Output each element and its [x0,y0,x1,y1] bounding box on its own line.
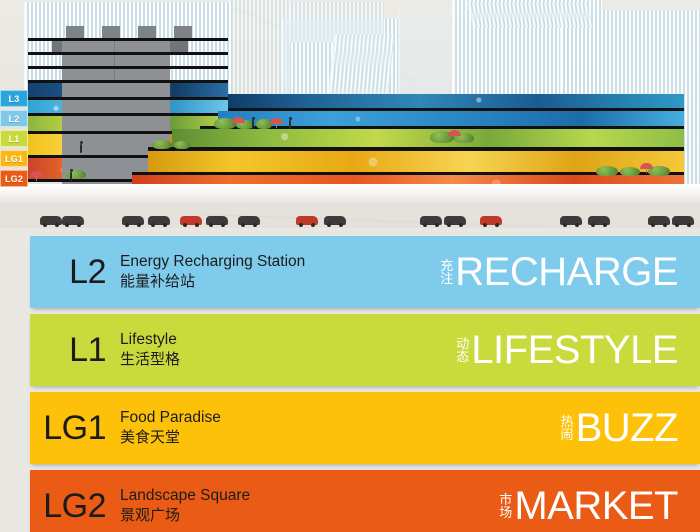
car [672,216,694,225]
podium-band-l1 [172,129,684,148]
terrace-shrub [174,141,190,149]
legend-tag-zh-top: 充 [440,260,453,273]
legend-tag-zh-top: 热 [561,416,574,429]
legend-tag-zh-bottom: 闹 [561,429,574,442]
legend-name-en: Energy Recharging Station [120,253,440,272]
rooftop-mechanical-unit [174,26,192,38]
background-tower [467,2,593,28]
floor-slab [28,52,228,55]
floor-tab-label: LG1 [5,154,23,164]
terrace-shrub [152,140,172,149]
rooftop-mechanical-unit [138,26,156,38]
person-figure [289,120,291,129]
legend-name-zh: 景观广场 [120,506,499,525]
terrace-umbrella [232,117,245,123]
street-strip [0,184,700,206]
floor-level-tabs[interactable]: L3 L2 L1 LG1 LG2 [0,90,28,190]
floor-tab-lg2[interactable]: LG2 [0,170,28,187]
podium-band-l3 [228,94,684,109]
legend-tag-zh: 热 闹 [561,416,574,443]
building-core [62,100,170,114]
car [588,216,610,225]
legend-names: Food Paradise 美食天堂 [116,409,561,447]
legend-tag: 热 闹 BUZZ [561,408,700,448]
floor-legend-list: L2 Energy Recharging Station 能量补给站 充 注 R… [0,228,700,532]
person-figure [252,120,254,129]
legend-name-zh: 美食天堂 [120,428,561,447]
legend-tag: 充 注 RECHARGE [440,252,700,292]
car [296,216,318,225]
legend-level-code: L1 [30,333,116,367]
legend-row-lg2[interactable]: LG2 Landscape Square 景观广场 市 场 MARKET [30,470,700,532]
legend-level-code: LG2 [30,489,116,523]
car [206,216,228,225]
terrace-shrub [596,166,618,176]
legend-row-l1[interactable]: L1 Lifestyle 生活型格 动 态 LIFESTYLE [30,314,700,386]
legend-name-en: Landscape Square [120,487,499,506]
legend-tag-zh-bottom: 态 [456,351,469,364]
floor-tab-l2[interactable]: L2 [0,110,28,127]
car [420,216,442,225]
legend-names: Landscape Square 景观广场 [116,487,499,525]
car [180,216,202,225]
legend-name-en: Lifestyle [120,331,456,350]
legend-tag-en: MARKET [514,486,678,526]
legend-tag-zh-bottom: 场 [499,507,512,520]
terrace-umbrella [448,130,461,136]
floor-tab-label: L1 [9,134,20,144]
terrace-umbrella [640,163,653,169]
floor-tab-label: LG2 [5,174,23,184]
car [560,216,582,225]
car [238,216,260,225]
legend-name-en: Food Paradise [120,409,561,428]
floor-tab-lg1[interactable]: LG1 [0,150,28,167]
legend-tag-zh-top: 动 [456,338,469,351]
terrace-umbrella [270,118,283,124]
person-figure [70,172,72,181]
car [148,216,170,225]
legend-tag-en: BUZZ [576,408,678,448]
floor-tab-label: L3 [9,94,20,104]
legend-name-zh: 能量补给站 [120,272,440,291]
terrace-shrub [620,167,640,176]
rooftop-mechanical-unit [66,26,84,38]
building-core [62,116,170,132]
legend-tag-zh-bottom: 注 [440,273,453,286]
floor-tab-label: L2 [9,114,20,124]
legend-names: Energy Recharging Station 能量补给站 [116,253,440,291]
podium-band-l2 [218,111,684,127]
terrace-shrub [66,170,86,179]
legend-tag-en: RECHARGE [455,252,678,292]
car [480,216,502,225]
floor-tab-l3[interactable]: L3 [0,90,28,107]
floor-slab [28,66,228,69]
legend-level-code: LG1 [30,411,116,445]
terrace-umbrella [30,171,43,177]
floor-slab [28,38,228,41]
legend-level-code: L2 [30,255,116,289]
legend-row-lg1[interactable]: LG1 Food Paradise 美食天堂 热 闹 BUZZ [30,392,700,464]
building-core [62,83,170,98]
legend-tag-zh-top: 市 [499,494,512,507]
building-core [52,40,62,52]
car [324,216,346,225]
car [122,216,144,225]
legend-tag-zh: 充 注 [440,260,453,287]
car [444,216,466,225]
legend-tag: 动 态 LIFESTYLE [456,330,700,370]
person-figure [80,144,82,153]
legend-tag-zh: 市 场 [499,494,512,521]
car [648,216,670,225]
car [40,216,62,225]
building-section-illustration: L3 L2 L1 LG1 LG2 [0,0,700,228]
legend-tag: 市 场 MARKET [499,486,700,526]
legend-name-zh: 生活型格 [120,350,456,369]
building-core [170,40,188,52]
car [62,216,84,225]
legend-tag-en: LIFESTYLE [471,330,678,370]
legend-row-l2[interactable]: L2 Energy Recharging Station 能量补给站 充 注 R… [30,236,700,308]
legend-names: Lifestyle 生活型格 [116,331,456,369]
legend-tag-zh: 动 态 [456,338,469,365]
rooftop-mechanical-unit [102,26,120,38]
floor-tab-l1[interactable]: L1 [0,130,28,147]
